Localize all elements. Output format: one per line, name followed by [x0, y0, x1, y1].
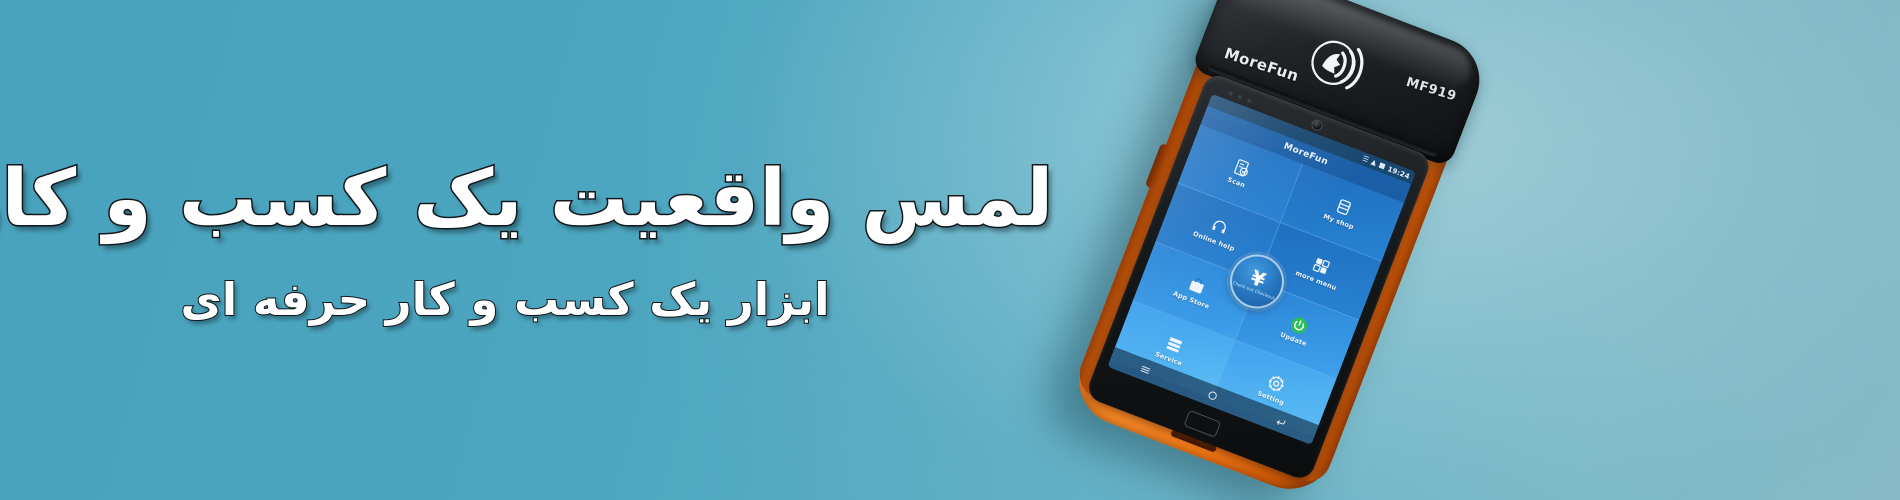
signal-icon: ▲ [1370, 159, 1378, 167]
home-circle-icon[interactable] [1206, 389, 1220, 403]
back-arrow-icon[interactable] [1274, 415, 1288, 429]
home-key[interactable] [1183, 410, 1221, 438]
front-camera-icon [1311, 119, 1323, 131]
banner-copy: لمس واقعیت یک کسب و کار ابزار یک کسب و ک… [0, 0, 1010, 500]
scan-document-icon [1231, 157, 1253, 179]
hero-banner: لمس واقعیت یک کسب و کار ابزار یک کسب و ک… [0, 0, 1900, 500]
grid-squares-icon [1311, 255, 1333, 277]
service-layers-icon [1163, 333, 1185, 355]
gear-icon [1265, 373, 1287, 395]
battery-icon: ■ [1378, 162, 1387, 171]
headset-support-icon [1208, 216, 1230, 238]
store-bag-icon [1186, 275, 1208, 297]
pos-terminal: MoreFun MF919 ☰ ▲ ■ 19:24 [1066, 0, 1487, 500]
wifi-icon: ☰ [1361, 155, 1369, 164]
device-stage: MoreFun MF919 ☰ ▲ ■ 19:24 [1010, 0, 1900, 500]
refresh-update-icon [1289, 315, 1310, 336]
sensor-dot-icon [1247, 98, 1252, 103]
sensor-dot-icon [1237, 95, 1242, 100]
menu-lines-icon[interactable] [1138, 363, 1152, 377]
shop-card-icon [1333, 196, 1355, 218]
banner-subheadline: ابزار یک کسب و کار حرفه ای [181, 275, 830, 325]
sensor-dot-icon [1228, 91, 1233, 96]
banner-headline: لمس واقعیت یک کسب و کار [0, 157, 1053, 241]
